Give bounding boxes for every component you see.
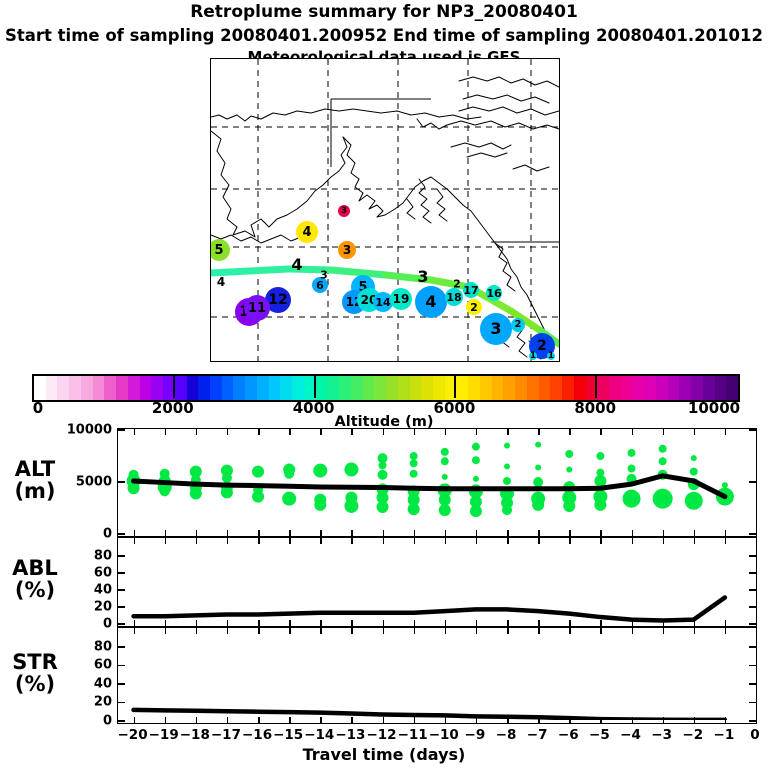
- colorbar-segment-57: [703, 376, 715, 400]
- colorbar-segment-4: [81, 376, 93, 400]
- colorbar-segment-2: [57, 376, 69, 400]
- trajectory-segment: [331, 270, 386, 275]
- y-tick-label-STR-60: 60: [62, 658, 112, 673]
- colorbar-segment-25: [327, 376, 339, 400]
- alt-scatter-dot: [128, 482, 140, 494]
- alt-scatter-dot: [503, 477, 511, 485]
- y-tick: [118, 533, 125, 535]
- colorbar-segment-43: [539, 376, 551, 400]
- alt-scatter-dot: [408, 503, 420, 515]
- colorbar-separator: [454, 374, 456, 398]
- y-tick: [118, 623, 125, 625]
- row-label-STR: STR(%): [8, 651, 62, 695]
- abl-panel: [117, 537, 757, 627]
- alt-scatter-dot: [282, 492, 296, 506]
- alt-scatter-dot: [439, 494, 451, 506]
- alt-scatter-dot: [623, 490, 641, 508]
- alt-scatter-dot: [566, 467, 572, 473]
- series-ABL: [118, 538, 756, 623]
- str-panel: [117, 627, 757, 724]
- alt-scatter-dot: [190, 487, 202, 499]
- colorbar-segment-13: [187, 376, 199, 400]
- map-day-label-3: 3: [320, 270, 328, 281]
- colorbar-segment-34: [433, 376, 445, 400]
- alt-scatter-dot: [441, 448, 449, 456]
- alt-scatter-dot: [221, 486, 233, 498]
- y-tick-label-ALT-10000: 10000: [62, 422, 112, 437]
- row-label-top: STR: [12, 650, 58, 674]
- colorbar-segment-15: [210, 376, 222, 400]
- alt-scatter-dot: [563, 500, 575, 512]
- alt-scatter-dot: [532, 499, 544, 511]
- colorbar-segment-19: [257, 376, 269, 400]
- colorbar-segment-29: [374, 376, 386, 400]
- y-tick-label-STR-40: 40: [62, 676, 112, 691]
- colorbar-segment-14: [198, 376, 210, 400]
- row-label-ALT: ALT(m): [8, 458, 62, 502]
- x-tick: [756, 717, 757, 723]
- colorbar-segment-32: [410, 376, 422, 400]
- colorbar-segment-16: [222, 376, 234, 400]
- alt-panel: [117, 428, 757, 537]
- colorbar-segment-8: [128, 376, 140, 400]
- alt-scatter-dot: [691, 455, 697, 461]
- alt-scatter-dot: [659, 457, 667, 465]
- colorbar-segment-38: [480, 376, 492, 400]
- map-marker-day-19: 19: [390, 288, 412, 310]
- sampling-times: Start time of sampling 20080401.200952 E…: [0, 26, 768, 45]
- alt-scatter-dot: [533, 477, 543, 487]
- trajectory-segment: [249, 269, 289, 271]
- x-tick-label-7: −13: [335, 727, 365, 743]
- colorbar-segment-39: [492, 376, 504, 400]
- x-tick-label-20: 0: [750, 727, 759, 743]
- colorbar-segment-50: [621, 376, 633, 400]
- mean-line: [134, 598, 725, 621]
- series-STR: [118, 628, 756, 720]
- alt-scatter-dot: [504, 443, 510, 449]
- alt-scatter-dot: [596, 452, 604, 460]
- series-ALT: [118, 429, 756, 533]
- colorbar-segment-20: [269, 376, 281, 400]
- alt-scatter-dot: [160, 486, 170, 496]
- colorbar-segment-22: [292, 376, 304, 400]
- alt-scatter-dot: [565, 450, 573, 458]
- map-marker-day-11: 11: [244, 295, 270, 321]
- row-label-top: ABL: [12, 556, 58, 580]
- colorbar-segment-37: [468, 376, 480, 400]
- map-marker-day-4: 4: [296, 221, 318, 243]
- colorbar-segment-49: [609, 376, 621, 400]
- x-tick-label-18: −2: [682, 727, 703, 743]
- row-label-ABL: ABL(%): [8, 557, 62, 601]
- alt-scatter-dot: [377, 501, 389, 513]
- alt-scatter-dot: [470, 505, 482, 517]
- row-label-bottom: (%): [15, 672, 55, 696]
- x-tick: [756, 628, 757, 634]
- colorbar-segment-48: [597, 376, 609, 400]
- alt-scatter-dot: [690, 468, 698, 476]
- colorbar-segment-55: [679, 376, 691, 400]
- colorbar-segment-10: [151, 376, 163, 400]
- x-tick-label-14: −6: [558, 727, 579, 743]
- y-tick: [749, 533, 756, 535]
- map-day-label-2: 2: [453, 279, 461, 290]
- y-tick-label-ABL-80: 80: [62, 548, 112, 563]
- colorbar-segment-5: [93, 376, 105, 400]
- alt-scatter-dot: [722, 482, 728, 488]
- x-tick-label-9: −11: [398, 727, 428, 743]
- x-tick-label-17: −3: [651, 727, 672, 743]
- y-tick-label-STR-0: 0: [62, 713, 112, 728]
- colorbar-segment-58: [715, 376, 727, 400]
- x-tick-label-11: −9: [465, 727, 486, 743]
- colorbar-segment-21: [280, 376, 292, 400]
- y-tick: [749, 720, 756, 722]
- x-tick-label-4: −16: [242, 727, 272, 743]
- y-tick-label-STR-80: 80: [62, 639, 112, 654]
- map-marker-day-4: 4: [415, 286, 447, 318]
- map-marker-day-2: 2: [466, 299, 482, 315]
- alt-scatter-dot: [502, 505, 512, 515]
- colorbar-segment-7: [116, 376, 128, 400]
- alt-scatter-dot: [628, 449, 636, 457]
- map-day-label-4: 4: [217, 276, 225, 288]
- alt-scatter-dot: [379, 461, 387, 469]
- colorbar-segment-52: [644, 376, 656, 400]
- x-axis-title: Travel time (days): [0, 745, 768, 764]
- x-tick-label-8: −12: [366, 727, 396, 743]
- colorbar-segment-59: [726, 376, 738, 400]
- alt-scatter-dot: [344, 499, 358, 513]
- row-label-bottom: (m): [14, 479, 55, 503]
- map-day-label-3: 3: [417, 269, 428, 285]
- y-tick-label-ALT-5000: 5000: [62, 474, 112, 489]
- x-tick-label-13: −7: [527, 727, 548, 743]
- colorbar-segment-27: [351, 376, 363, 400]
- colorbar-segment-1: [46, 376, 58, 400]
- y-tick-label-ABL-0: 0: [62, 616, 112, 631]
- trajectory-segment: [211, 271, 249, 273]
- colorbar-segment-3: [69, 376, 81, 400]
- colorbar-separator: [595, 374, 597, 398]
- colorbar-segment-56: [691, 376, 703, 400]
- map-marker-day-16: 16: [486, 285, 502, 301]
- x-tick: [756, 538, 757, 544]
- map-marker-day-2: 2: [511, 318, 525, 332]
- map-marker-day-3: 3: [338, 241, 356, 259]
- colorbar-separator: [314, 374, 316, 398]
- retroplume-map: 543312111165122014194181716232211 44332: [210, 58, 560, 362]
- alt-scatter-dot: [439, 504, 451, 516]
- colorbar-segment-54: [668, 376, 680, 400]
- alt-scatter-dot: [378, 470, 388, 480]
- x-tick-label-3: −17: [211, 727, 241, 743]
- colorbar-segment-36: [456, 376, 468, 400]
- x-tick-label-16: −4: [620, 727, 641, 743]
- colorbar-segment-28: [363, 376, 375, 400]
- x-tick-label-19: −1: [714, 727, 735, 743]
- page-title: Retroplume summary for NP3_20080401: [0, 2, 768, 22]
- row-label-top: ALT: [15, 457, 55, 481]
- alt-scatter-dot: [535, 464, 541, 470]
- alt-scatter-dot: [504, 463, 510, 469]
- map-marker-day-17: 17: [463, 282, 479, 298]
- colorbar-segment-26: [339, 376, 351, 400]
- alt-scatter-dot: [410, 470, 418, 478]
- y-tick-label-ALT-0: 0: [62, 526, 112, 541]
- alt-scatter-dot: [410, 459, 418, 467]
- y-tick: [749, 623, 756, 625]
- colorbar-segment-46: [574, 376, 586, 400]
- colorbar-segment-17: [233, 376, 245, 400]
- x-tick: [756, 620, 757, 626]
- alt-scatter-dot: [314, 499, 326, 511]
- colorbar-segment-0: [34, 376, 46, 400]
- alt-scatter-dot: [410, 452, 418, 460]
- x-tick-label-10: −10: [429, 727, 459, 743]
- alt-scatter-dot: [252, 491, 264, 503]
- map-marker-day-18: 18: [445, 288, 463, 306]
- map-marker-day-1: 1: [529, 352, 537, 360]
- map-marker-day-1: 1: [547, 352, 555, 360]
- map-marker-day-3: 3: [480, 313, 512, 345]
- colorbar-segment-51: [632, 376, 644, 400]
- x-tick: [756, 429, 757, 435]
- alt-scatter-dot: [594, 499, 606, 511]
- colorbar-segment-42: [527, 376, 539, 400]
- x-tick-label-12: −8: [496, 727, 517, 743]
- y-tick: [118, 720, 125, 722]
- alt-scatter-dot: [344, 463, 358, 477]
- alt-scatter-dot: [473, 476, 479, 482]
- map-day-label-4: 4: [291, 257, 302, 273]
- map-marker-day-3: 3: [338, 205, 350, 217]
- x-tick-label-1: −19: [149, 727, 179, 743]
- colorbar-segment-40: [503, 376, 515, 400]
- alt-scatter-dot: [313, 464, 327, 478]
- alt-scatter-dot: [653, 489, 673, 509]
- colorbar-segment-31: [398, 376, 410, 400]
- colorbar-segment-6: [104, 376, 116, 400]
- y-tick-label-STR-20: 20: [62, 695, 112, 710]
- x-tick-label-2: −18: [180, 727, 210, 743]
- y-tick-label-ABL-20: 20: [62, 599, 112, 614]
- alt-scatter-dot: [472, 443, 480, 451]
- alt-scatter-dot: [535, 442, 541, 448]
- colorbar-segment-24: [316, 376, 328, 400]
- alt-scatter-dot: [628, 465, 636, 473]
- colorbar-segment-30: [386, 376, 398, 400]
- colorbar-segment-45: [562, 376, 574, 400]
- mean-line: [134, 710, 725, 720]
- alt-scatter-dot: [472, 456, 480, 464]
- colorbar-segment-33: [421, 376, 433, 400]
- colorbar-segment-12: [175, 376, 187, 400]
- colorbar-segment-9: [140, 376, 152, 400]
- altitude-colorbar: [32, 374, 740, 402]
- alt-scatter-dot: [659, 445, 667, 453]
- row-label-bottom: (%): [15, 578, 55, 602]
- colorbar-segment-18: [245, 376, 257, 400]
- alt-scatter-dot: [284, 469, 294, 479]
- x-tick-label-15: −5: [589, 727, 610, 743]
- x-tick: [756, 530, 757, 536]
- y-tick-label-ABL-60: 60: [62, 565, 112, 580]
- alt-scatter-dot: [442, 474, 448, 480]
- y-tick-label-ABL-40: 40: [62, 582, 112, 597]
- alt-scatter-dot: [685, 492, 703, 510]
- x-tick-label-5: −15: [273, 727, 303, 743]
- alt-scatter-dot: [441, 457, 449, 465]
- colorbar-segment-44: [550, 376, 562, 400]
- colorbar-segment-41: [515, 376, 527, 400]
- x-tick-label-0: −20: [117, 727, 147, 743]
- colorbar-segment-53: [656, 376, 668, 400]
- colorbar-separator: [173, 374, 175, 398]
- alt-scatter-dot: [252, 466, 264, 478]
- x-tick-label-6: −14: [304, 727, 334, 743]
